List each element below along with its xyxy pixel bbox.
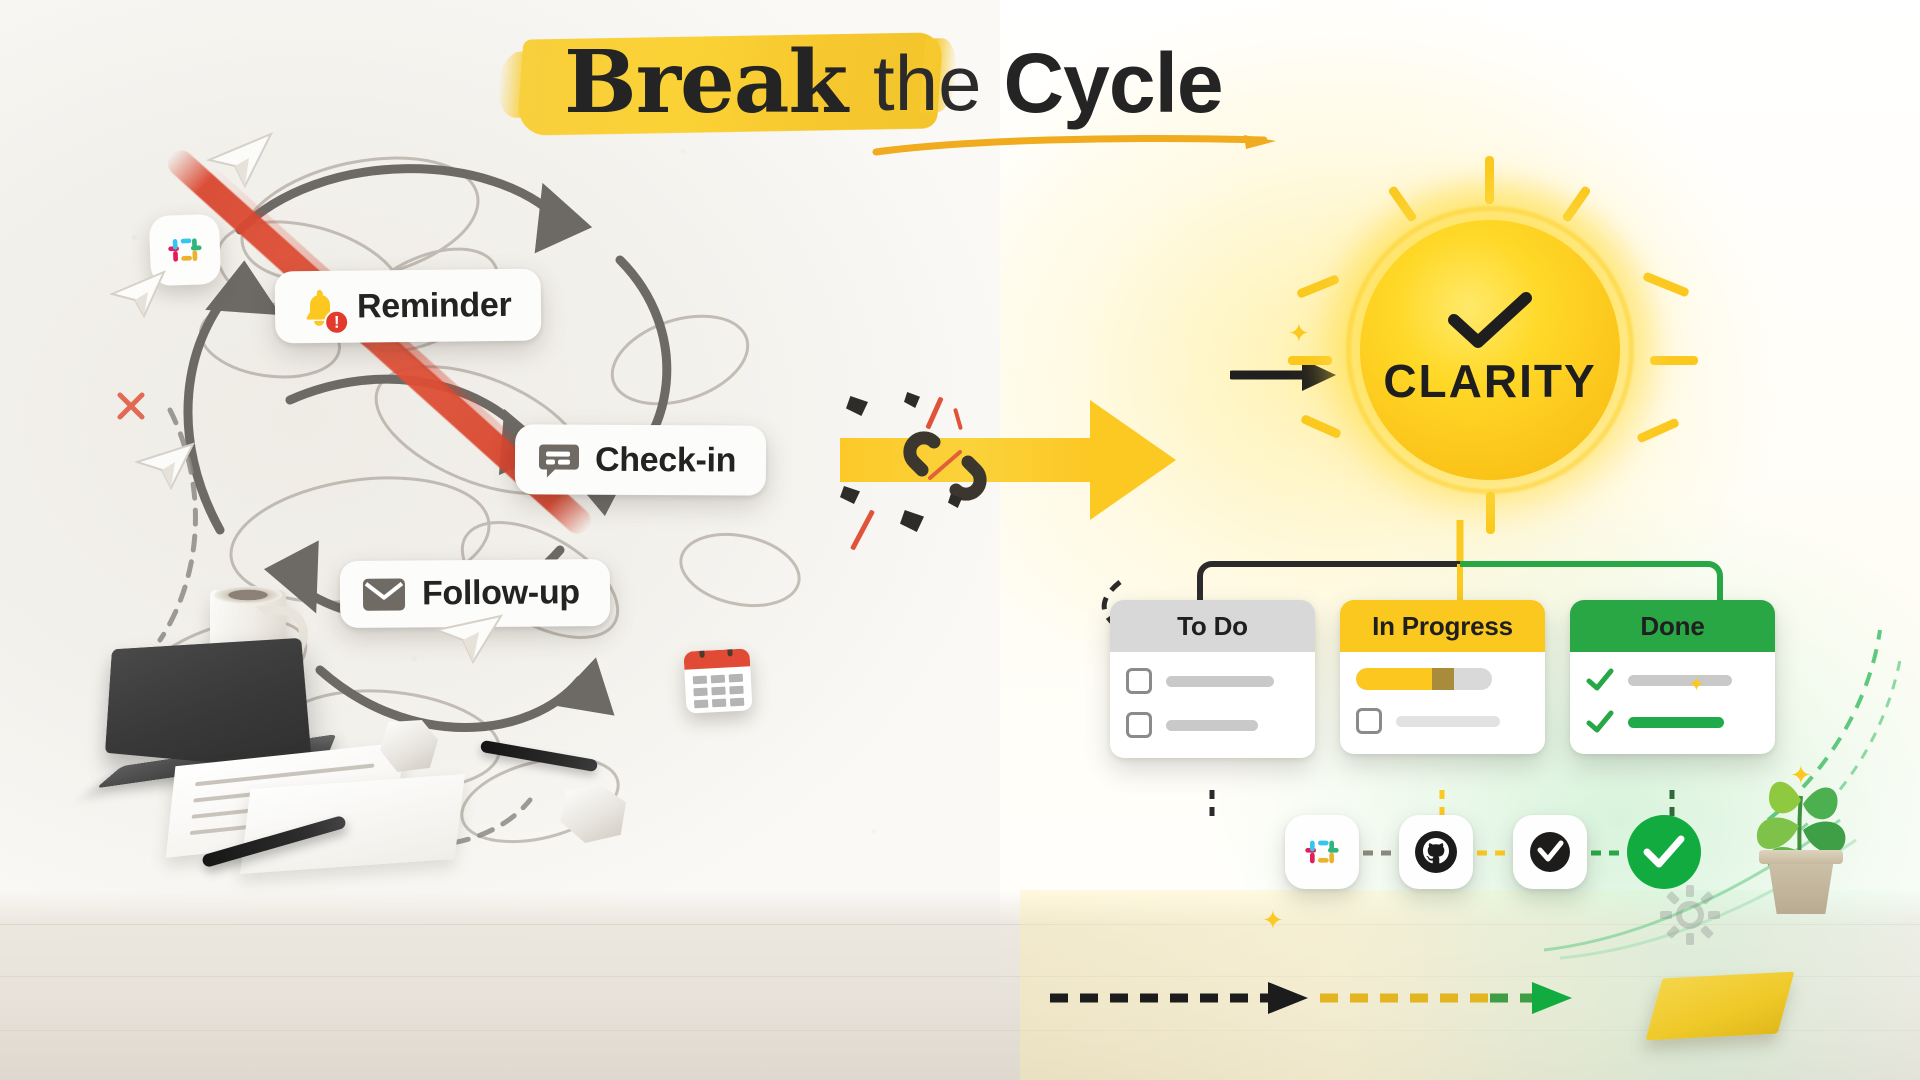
reminder-badge: ! — [324, 310, 349, 335]
sparkle-icon: ✦ — [1688, 672, 1705, 697]
kanban-column-todo[interactable]: To Do — [1110, 600, 1315, 758]
yellow-arrow-head — [1090, 400, 1176, 520]
check-icon — [1586, 710, 1614, 734]
slack-icon — [1302, 832, 1342, 872]
kanban-column-done-title: Done — [1570, 600, 1775, 652]
title-word-break: Break — [520, 40, 847, 126]
kanban-row — [1586, 710, 1761, 734]
sparkle-icon: ✦ — [1288, 318, 1310, 349]
checkbox-icon[interactable] — [1126, 712, 1152, 738]
kanban-row — [1356, 708, 1531, 734]
sun-core: CLARITY — [1360, 220, 1620, 480]
illustration-canvas: Break the Cycle — [0, 0, 1920, 1080]
kanban-row — [1356, 668, 1531, 690]
kanban-row — [1586, 668, 1761, 692]
integration-icon-slack[interactable] — [1285, 815, 1359, 889]
check-icon — [1586, 668, 1614, 692]
plant-pot-rim — [1759, 850, 1843, 864]
clarity-label: CLARITY — [1383, 354, 1596, 408]
kanban-board: To Do In Progress Done — [1110, 600, 1790, 800]
slack-icon — [164, 229, 205, 270]
kanban-column-todo-title: To Do — [1110, 600, 1315, 652]
pill-checkin-label: Check-in — [595, 440, 736, 480]
checkbox-icon[interactable] — [1356, 708, 1382, 734]
integration-icon-github[interactable] — [1399, 815, 1473, 889]
calendar-icon — [683, 648, 750, 669]
pill-checkin[interactable]: Check-in — [515, 424, 767, 495]
red-x-icon — [115, 390, 147, 422]
kanban-column-done[interactable]: Done — [1570, 600, 1775, 754]
pill-reminder[interactable]: ! Reminder — [275, 269, 542, 344]
gear-icon — [1660, 885, 1720, 945]
broken-chain-link-icon — [900, 426, 990, 506]
pill-followup-label: Follow-up — [422, 573, 580, 613]
clarity-sun: CLARITY — [1310, 170, 1750, 530]
sparkle-icon: ✦ — [1262, 905, 1284, 936]
potted-plant — [1725, 760, 1875, 900]
paper-plane-icon — [135, 440, 197, 492]
checkmark-icon — [1444, 292, 1536, 348]
envelope-icon — [362, 576, 406, 612]
kanban-row — [1126, 712, 1301, 738]
kanban-row — [1126, 668, 1301, 694]
bell-icon: ! — [297, 285, 341, 329]
github-octocat-icon — [1413, 829, 1459, 875]
kanban-column-in-progress-title: In Progress — [1340, 600, 1545, 652]
chat-bubble-icon — [537, 438, 579, 480]
kanban-column-in-progress[interactable]: In Progress — [1340, 600, 1545, 754]
checkbox-icon[interactable] — [1126, 668, 1152, 694]
progress-bar — [1356, 668, 1492, 690]
paper-sheet — [240, 774, 465, 874]
bottom-progress-arrow — [1020, 970, 1700, 1030]
paper-plane-icon — [435, 610, 505, 666]
pill-reminder-label: Reminder — [357, 285, 512, 326]
calendar-chip[interactable] — [683, 648, 752, 713]
paper-plane-icon — [110, 270, 168, 320]
paper-plane-icon — [205, 130, 275, 190]
